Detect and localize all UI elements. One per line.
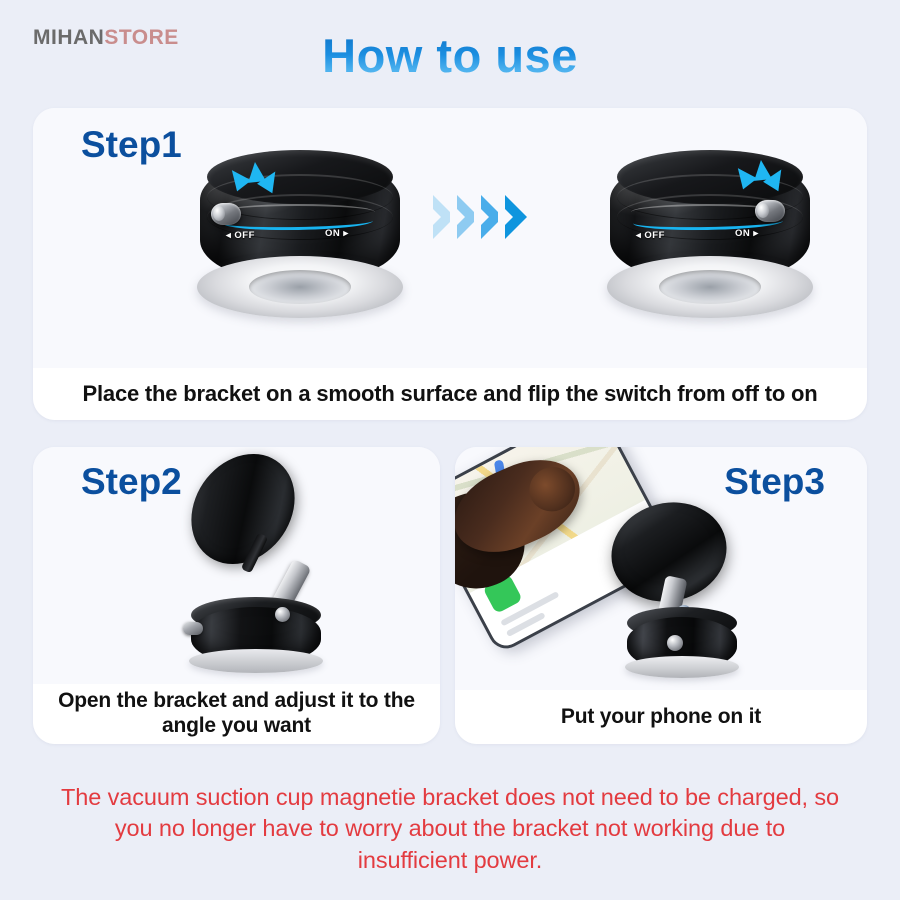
step-caption-1: Place the bracket on a smooth surface an… <box>33 368 867 420</box>
page-header: MIHANSTORE How to use <box>0 0 900 100</box>
switch-off-label: ◂ OFF <box>226 230 255 241</box>
transition-arrows <box>433 186 573 248</box>
suction-cup <box>197 256 403 318</box>
highlight-burst-icon <box>227 162 287 204</box>
switch-off-label: ◂ OFF <box>636 230 665 241</box>
step-label-1: Step1 <box>81 124 182 166</box>
step1-illustration: ◂ OFF ON ▸ ◂ OFF ON ▸ Step1 <box>33 108 867 368</box>
device-switch-on: ◂ OFF ON ▸ <box>605 148 815 323</box>
switch-knob[interactable] <box>755 200 785 222</box>
bracket-open-graphic <box>163 459 353 677</box>
step-label-3: Step3 <box>724 461 825 503</box>
step-card-3: Step3 Put your phone on it <box>455 447 867 744</box>
suction-cup <box>607 256 813 318</box>
hinge-screw <box>667 635 683 651</box>
step-card-2: Step2 Open the bracket and adjust it to … <box>33 447 440 744</box>
step-caption-3: Put your phone on it <box>455 690 867 744</box>
device-switch-off: ◂ OFF ON ▸ <box>195 148 405 323</box>
step3-illustration: Step3 <box>455 447 867 690</box>
step-card-1: ◂ OFF ON ▸ ◂ OFF ON ▸ Step1 Place the <box>33 108 867 420</box>
suction-ring <box>189 649 323 673</box>
footer-note: The vacuum suction cup magnetie bracket … <box>60 782 840 876</box>
suction-ring <box>625 656 739 678</box>
step-label-2: Step2 <box>81 461 182 503</box>
step-caption-2: Open the bracket and adjust it to the an… <box>33 684 440 744</box>
hinge-screw <box>275 607 290 622</box>
switch-on-label: ON ▸ <box>325 228 349 239</box>
switch-on-label: ON ▸ <box>735 228 759 239</box>
switch-knob[interactable] <box>211 203 241 225</box>
highlight-burst-icon <box>733 160 793 202</box>
step2-illustration: Step2 <box>33 447 440 684</box>
page-title: How to use <box>0 28 900 83</box>
chevron-right-icon <box>505 195 527 239</box>
side-switch-knob[interactable] <box>183 622 203 635</box>
bracket-tilted-graphic <box>605 489 775 689</box>
